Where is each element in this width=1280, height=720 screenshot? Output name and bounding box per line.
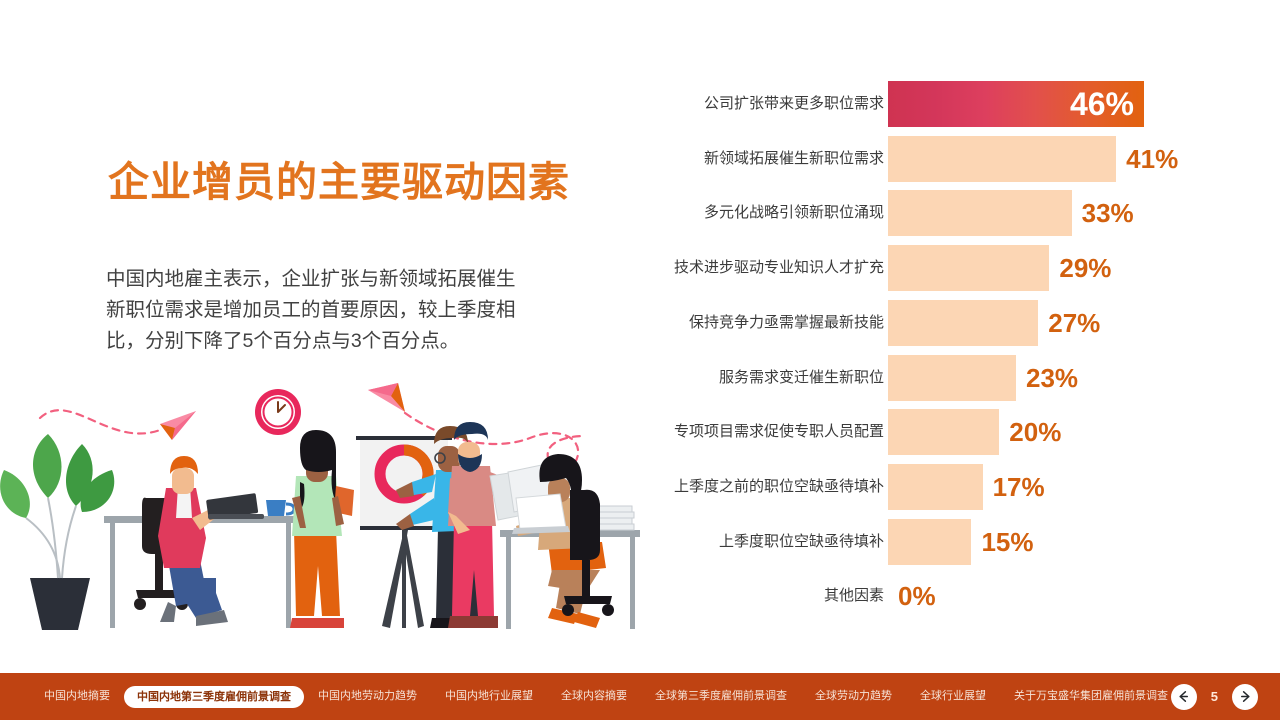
bar-category-label: 上季度职位空缺亟待填补 xyxy=(719,519,884,565)
nav-item[interactable]: 中国内地行业展望 xyxy=(431,673,547,720)
bar-row: 技术进步驱动专业知识人才扩充29% xyxy=(640,245,1280,291)
body-paragraph: 中国内地雇主表示，企业扩张与新领域拓展催生新职位需求是增加员工的首要原因，较上季… xyxy=(106,264,531,357)
bar-row: 其他因素0% xyxy=(640,573,1280,619)
bar-value-label: 29% xyxy=(1059,245,1111,291)
bar-fill xyxy=(888,519,971,565)
bar-row: 上季度之前的职位空缺亟待填补17% xyxy=(640,464,1280,510)
wall-clock-icon xyxy=(255,389,301,435)
bar-category-label: 其他因素 xyxy=(824,573,884,619)
bar-fill xyxy=(888,245,1049,291)
nav-item[interactable]: 全球行业展望 xyxy=(906,673,1000,720)
nav-item[interactable]: 全球劳动力趋势 xyxy=(801,673,906,720)
potted-plant xyxy=(0,434,114,630)
bar-value-label: 41% xyxy=(1126,136,1178,182)
bar-category-label: 公司扩张带来更多职位需求 xyxy=(704,81,884,127)
bar-fill xyxy=(888,136,1116,182)
nav-pagination: 5 xyxy=(1171,673,1258,720)
arrow-right-icon xyxy=(1238,689,1253,704)
nav-item[interactable]: 中国内地摘要 xyxy=(30,673,124,720)
arrow-left-icon xyxy=(1176,689,1191,704)
bar-fill: 46% xyxy=(888,81,1144,127)
bar-value-label: 17% xyxy=(993,464,1045,510)
next-page-button[interactable] xyxy=(1232,684,1258,710)
nav-item-active[interactable]: 中国内地第三季度雇佣前景调查 xyxy=(124,686,304,708)
bar-value-label: 27% xyxy=(1048,300,1100,346)
bar-value-label: 15% xyxy=(981,519,1033,565)
nav-item[interactable]: 全球内容摘要 xyxy=(547,673,641,720)
paper-plane-right-icon xyxy=(368,383,405,412)
bearded-man-documents xyxy=(448,422,516,628)
coffee-cup xyxy=(266,500,294,516)
nav-item[interactable]: 中国内地劳动力趋势 xyxy=(304,673,431,720)
horizontal-bar-chart: 公司扩张带来更多职位需求46%新领域拓展催生新职位需求41%多元化战略引领新职位… xyxy=(640,0,1280,672)
nav-item[interactable]: 关于万宝盛华集团雇佣前景调查 xyxy=(1000,673,1182,720)
bar-value-label: 20% xyxy=(1009,409,1061,455)
bar-row: 保持竞争力亟需掌握最新技能27% xyxy=(640,300,1280,346)
left-content-panel: 企业增员的主要驱动因素 中国内地雇主表示，企业扩张与新领域拓展催生新职位需求是增… xyxy=(0,0,640,672)
slide-root: 企业增员的主要驱动因素 中国内地雇主表示，企业扩张与新领域拓展催生新职位需求是增… xyxy=(0,0,1280,720)
paper-plane-trail-left xyxy=(40,410,160,433)
bar-row: 新领域拓展催生新职位需求41% xyxy=(640,136,1280,182)
page-number: 5 xyxy=(1211,689,1218,704)
nav-item-list: 中国内地摘要中国内地第三季度雇佣前景调查中国内地劳动力趋势中国内地行业展望全球内… xyxy=(30,673,1182,720)
prev-page-button[interactable] xyxy=(1171,684,1197,710)
bar-category-label: 技术进步驱动专业知识人才扩充 xyxy=(674,245,884,291)
bar-row: 专项项目需求促使专职人员配置20% xyxy=(640,409,1280,455)
bar-value-label: 33% xyxy=(1082,190,1134,236)
bar-row: 服务需求变迁催生新职位23% xyxy=(640,355,1280,401)
bar-category-label: 服务需求变迁催生新职位 xyxy=(719,355,884,401)
bar-category-label: 专项项目需求促使专职人员配置 xyxy=(674,409,884,455)
bar-fill xyxy=(888,409,999,455)
bar-category-label: 新领域拓展催生新职位需求 xyxy=(704,136,884,182)
bar-category-label: 上季度之前的职位空缺亟待填补 xyxy=(674,464,884,510)
office-team-illustration xyxy=(0,378,640,636)
bar-fill xyxy=(888,300,1038,346)
bar-fill xyxy=(888,355,1016,401)
bar-value-label: 0% xyxy=(898,573,936,619)
bar-row: 上季度职位空缺亟待填补15% xyxy=(640,519,1280,565)
bottom-navigation-bar: 中国内地摘要中国内地第三季度雇佣前景调查中国内地劳动力趋势中国内地行业展望全球内… xyxy=(0,673,1280,720)
bar-value-label: 23% xyxy=(1026,355,1078,401)
paper-plane-left-icon xyxy=(160,411,196,440)
bar-fill xyxy=(888,464,983,510)
bar-category-label: 保持竞争力亟需掌握最新技能 xyxy=(689,300,884,346)
bar-category-label: 多元化战略引领新职位涌现 xyxy=(704,190,884,236)
page-title: 企业增员的主要驱动因素 xyxy=(108,148,570,208)
nav-item[interactable]: 全球第三季度雇佣前景调查 xyxy=(641,673,801,720)
bar-value-label: 46% xyxy=(1070,81,1134,127)
standing-woman-folder xyxy=(290,430,354,628)
bar-row: 多元化战略引领新职位涌现33% xyxy=(640,190,1280,236)
bar-row: 公司扩张带来更多职位需求46% xyxy=(640,81,1280,127)
seated-man-laptop xyxy=(158,456,264,626)
bar-fill xyxy=(888,190,1072,236)
